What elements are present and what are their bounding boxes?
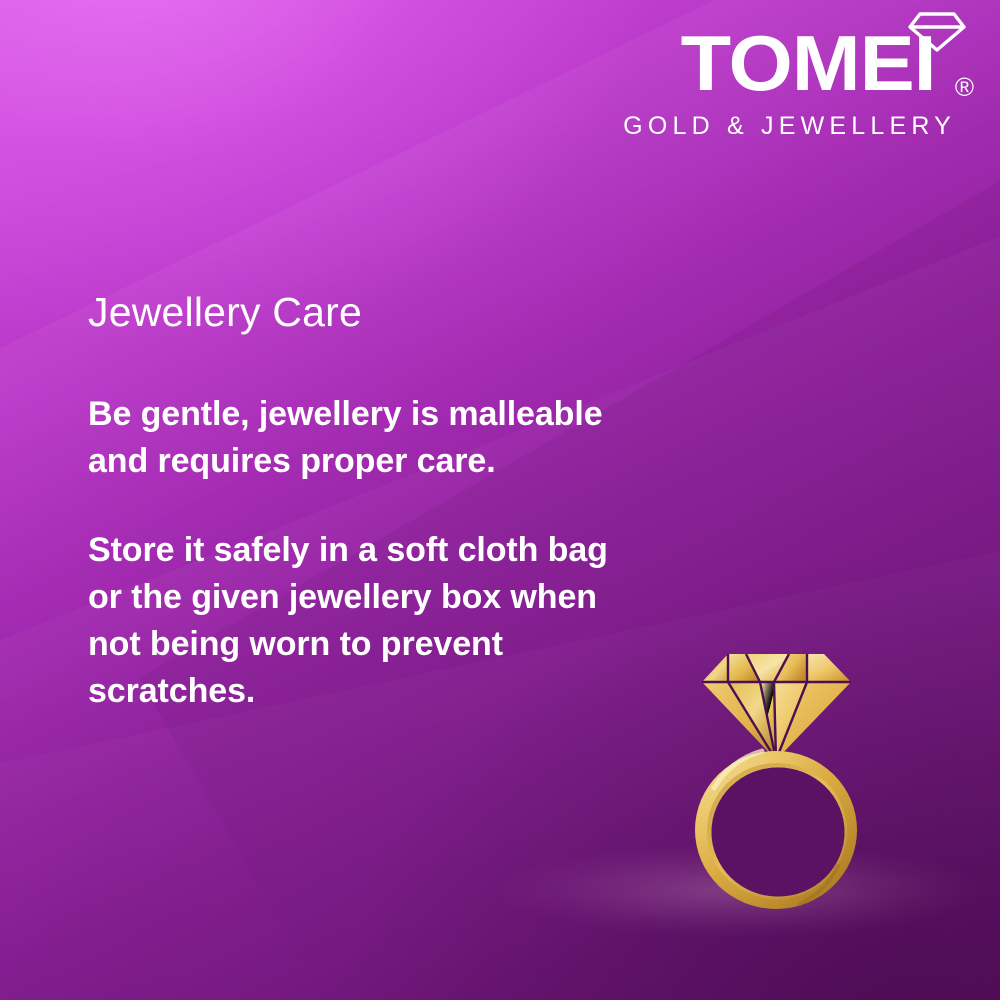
logo-wordmark: TOMEI	[681, 24, 936, 102]
care-paragraph-1: Be gentle, jewellery is malleable and re…	[88, 391, 648, 485]
ring-band-icon	[695, 751, 857, 909]
poster-canvas: TOMEI ® GOLD & JEWELLERY Jewellery Care …	[0, 0, 1000, 1000]
content-block: Jewellery Care Be gentle, jewellery is m…	[88, 288, 648, 715]
care-paragraph-2: Store it safely in a soft cloth bag or t…	[88, 527, 648, 715]
logo-mark: TOMEI ®	[648, 8, 978, 108]
gold-diamond-ring-illustration	[688, 638, 888, 910]
tomei-logo: TOMEI ® GOLD & JEWELLERY	[648, 8, 978, 108]
page-title: Jewellery Care	[88, 288, 648, 336]
logo-tagline: GOLD & JEWELLERY	[623, 112, 956, 140]
diamond-gem-icon	[702, 654, 851, 760]
registered-trademark-icon: ®	[955, 74, 974, 100]
